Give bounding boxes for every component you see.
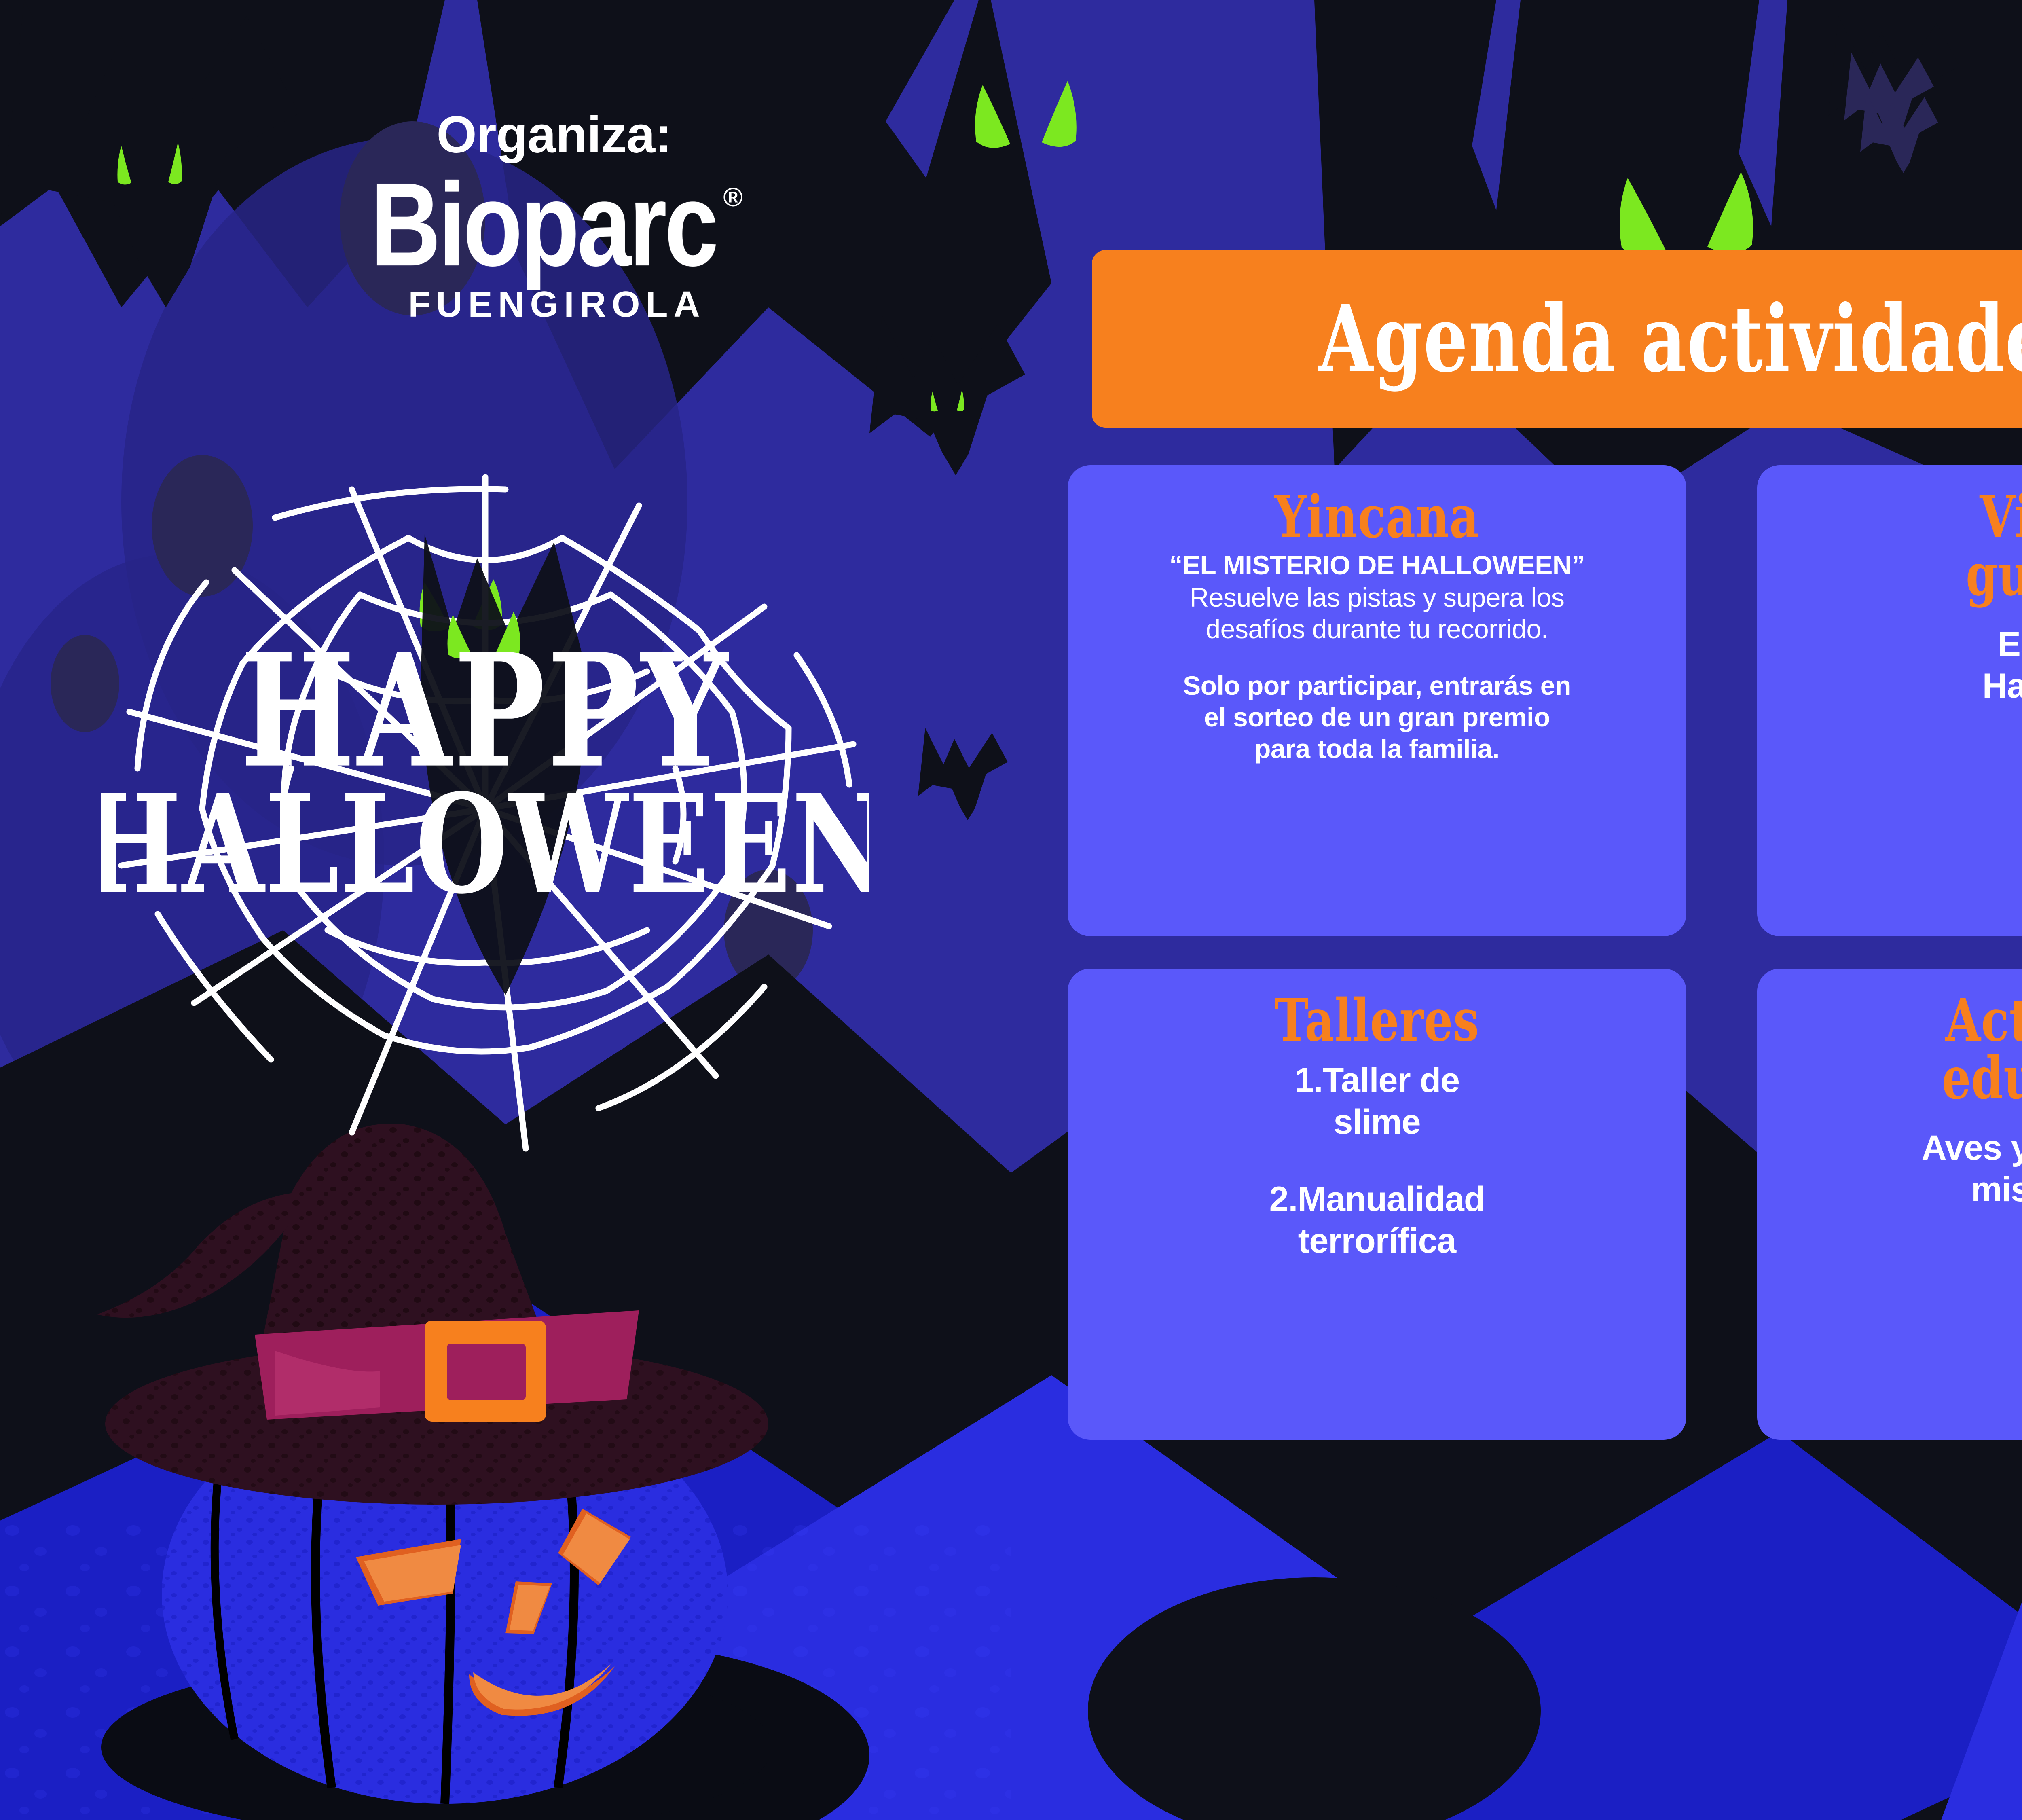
card-title: Visitas guiadas — [1966, 489, 2022, 604]
halloween-poster: Organiza: Bioparc ® FUENGIROLA — [0, 0, 2022, 1820]
card-body-secondary: Solo por participar, entrarás en el sort… — [1183, 670, 1571, 765]
hero-line-2: HALLOWEEN — [101, 764, 869, 924]
activities-grid: Yincana “EL MISTERIO DE HALLOWEEN” Resue… — [1068, 465, 2022, 1440]
agenda-header-banner: Agenda actividades 31 de oct, 1 y 2 de n… — [1092, 250, 2022, 428]
card-title: Actividad educativa — [1942, 992, 2022, 1107]
card-highlight: Aves y mamíferos misteriosos — [1922, 1127, 2022, 1211]
happy-halloween-badge: HAPPY HALLOWEEN — [101, 461, 869, 1157]
activity-card-yincana[interactable]: Yincana “EL MISTERIO DE HALLOWEEN” Resue… — [1068, 465, 1686, 936]
bioparc-wordmark: Bioparc — [370, 170, 716, 279]
card-title: Yincana — [1275, 489, 1480, 546]
organiza-label: Organiza: — [436, 109, 671, 161]
card-lead: “EL MISTERIO DE HALLOWEEN” — [1169, 550, 1584, 580]
card-highlight: Especial Halloween — [1982, 624, 2022, 707]
witch-hat-pumpkin — [49, 1100, 837, 1820]
registered-mark-icon: ® — [723, 184, 743, 210]
card-title: Talleres — [1275, 992, 1479, 1050]
card-workshop-1: 1.Taller de slime — [1294, 1060, 1459, 1143]
activity-card-actividad-educativa[interactable]: Actividad educativa Aves y mamíferos mis… — [1757, 969, 2022, 1440]
card-workshop-2: 2.Manualidad terrorífica — [1269, 1179, 1485, 1262]
spider-web-icon: HAPPY HALLOWEEN — [101, 461, 869, 1157]
pumpkin-icon — [49, 1100, 837, 1820]
card-body: Resuelve las pistas y supera los desafío… — [1190, 582, 1565, 645]
organizer-block: Organiza: Bioparc ® FUENGIROLA — [133, 109, 975, 326]
activity-card-talleres[interactable]: Talleres 1.Taller de slime 2.Manualidad … — [1068, 969, 1686, 1440]
agenda-title: Agenda actividades — [1318, 293, 2022, 385]
activity-card-visitas-guiadas[interactable]: Visitas guiadas Especial Halloween — [1757, 465, 2022, 936]
bioparc-logo: Bioparc ® — [365, 170, 743, 262]
